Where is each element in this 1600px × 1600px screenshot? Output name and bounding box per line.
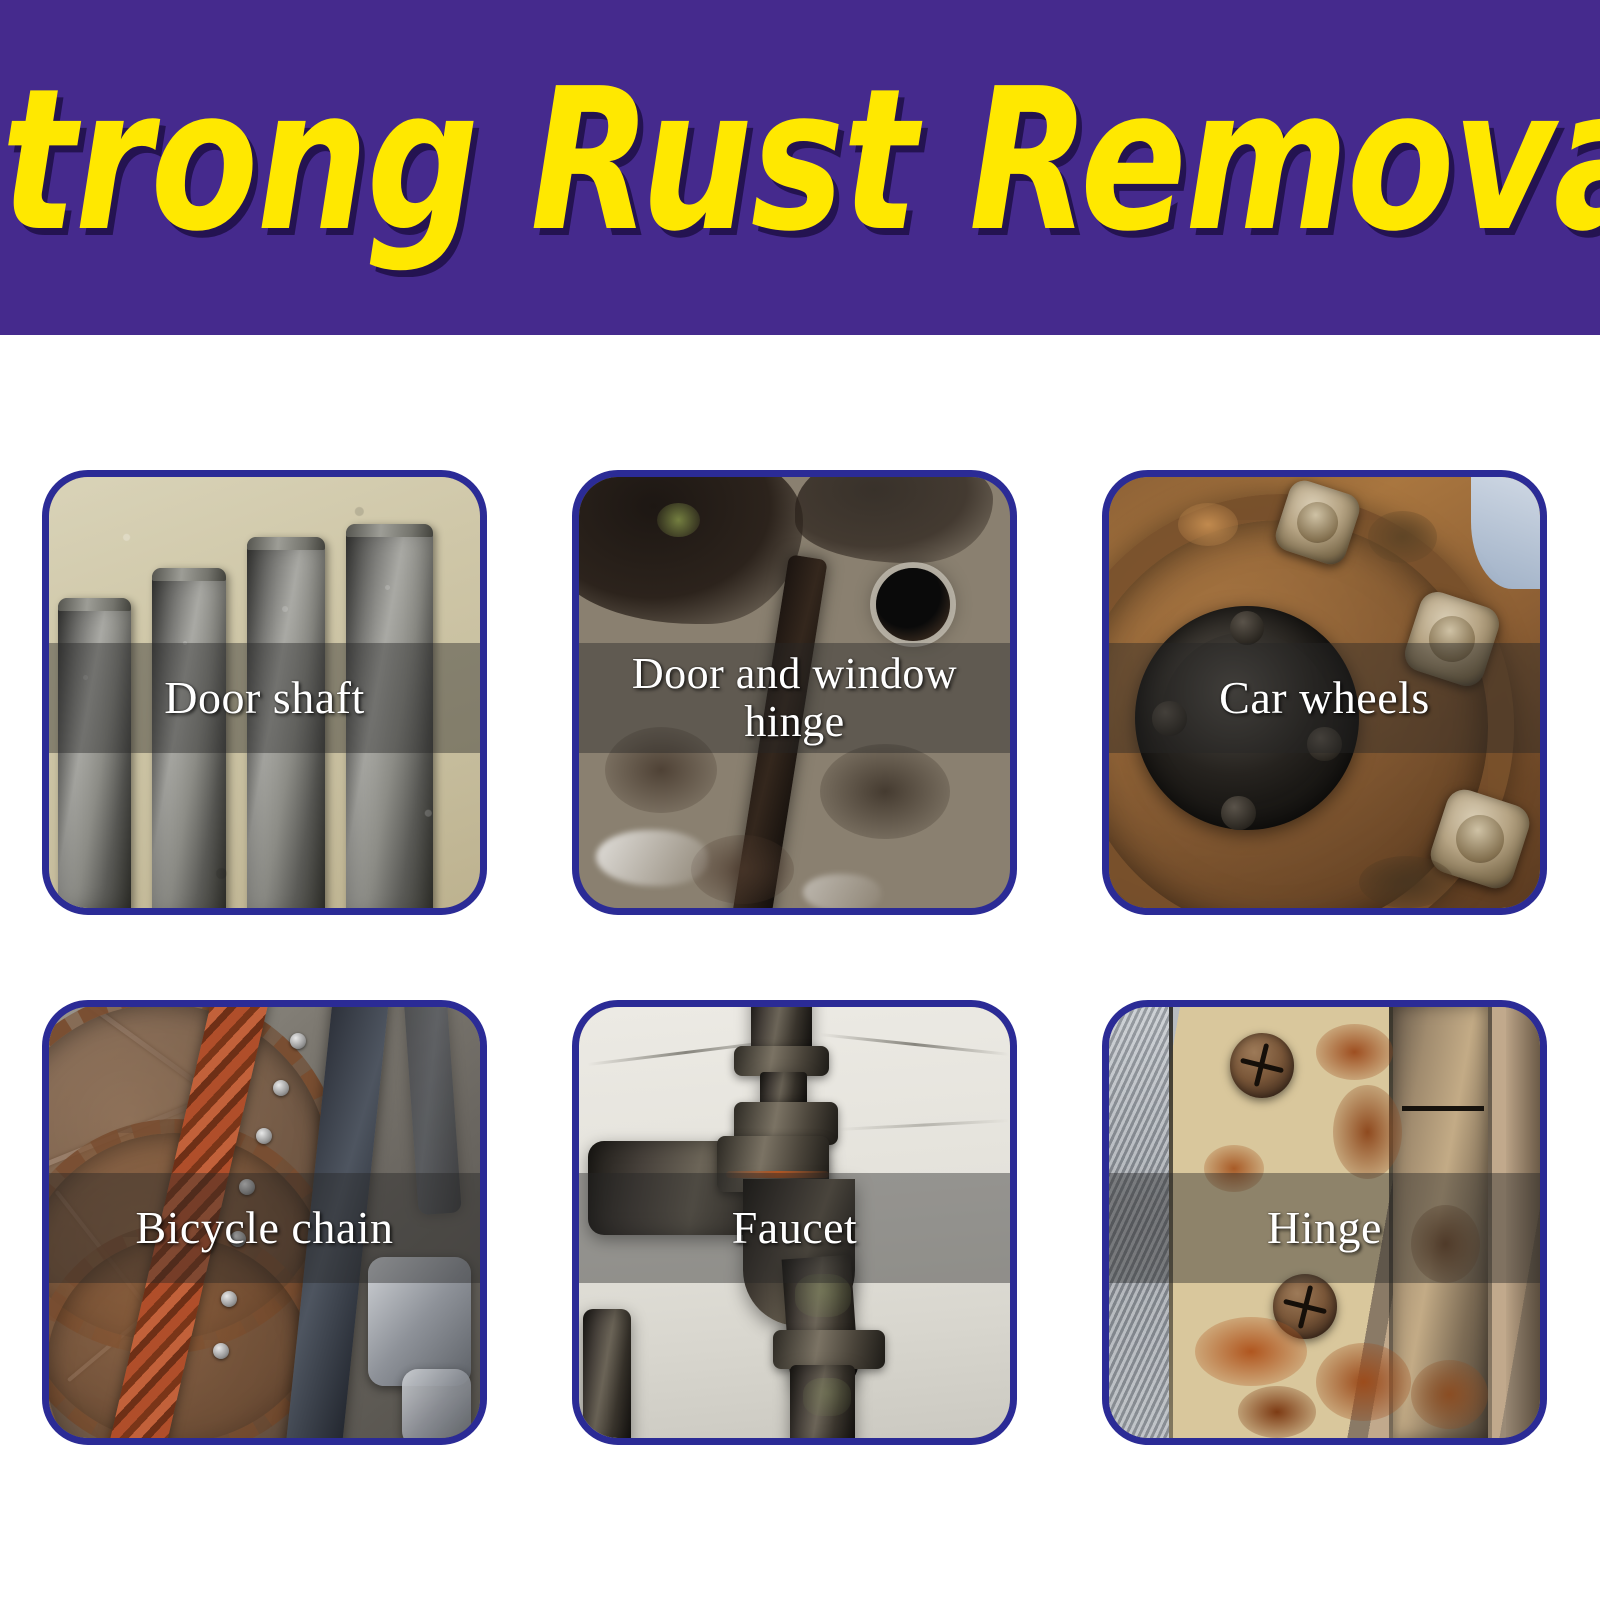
caption-band: Car wheels [1109, 643, 1540, 753]
caption-band: Bicycle chain [49, 1173, 480, 1283]
tile-faucet[interactable]: Faucet [572, 1000, 1017, 1445]
tile-caption: Hinge [1253, 1203, 1396, 1253]
tile-caption: Car wheels [1205, 673, 1444, 723]
tile-caption: Faucet [718, 1203, 872, 1253]
tile-caption: Door and windowhinge [618, 650, 971, 745]
tile-hinge[interactable]: Hinge [1102, 1000, 1547, 1445]
header-banner: Strong Rust Removal [0, 0, 1600, 335]
infographic-page: Strong Rust Removal Door shaft [0, 0, 1600, 1600]
caption-band: Faucet [579, 1173, 1010, 1283]
caption-band: Hinge [1109, 1173, 1540, 1283]
page-title: Strong Rust Removal [160, 0, 1440, 335]
tile-caption: Door shaft [150, 673, 378, 723]
tile-bicycle-chain[interactable]: Bicycle chain [42, 1000, 487, 1445]
tile-car-wheels[interactable]: Car wheels [1102, 470, 1547, 915]
caption-band: Door and windowhinge [579, 643, 1010, 753]
caption-band: Door shaft [49, 643, 480, 753]
tile-caption: Bicycle chain [121, 1203, 407, 1253]
use-case-grid: Door shaft Door and windowhinge [42, 470, 1547, 1445]
tile-door-shaft[interactable]: Door shaft [42, 470, 487, 915]
tile-door-window-hinge[interactable]: Door and windowhinge [572, 470, 1017, 915]
